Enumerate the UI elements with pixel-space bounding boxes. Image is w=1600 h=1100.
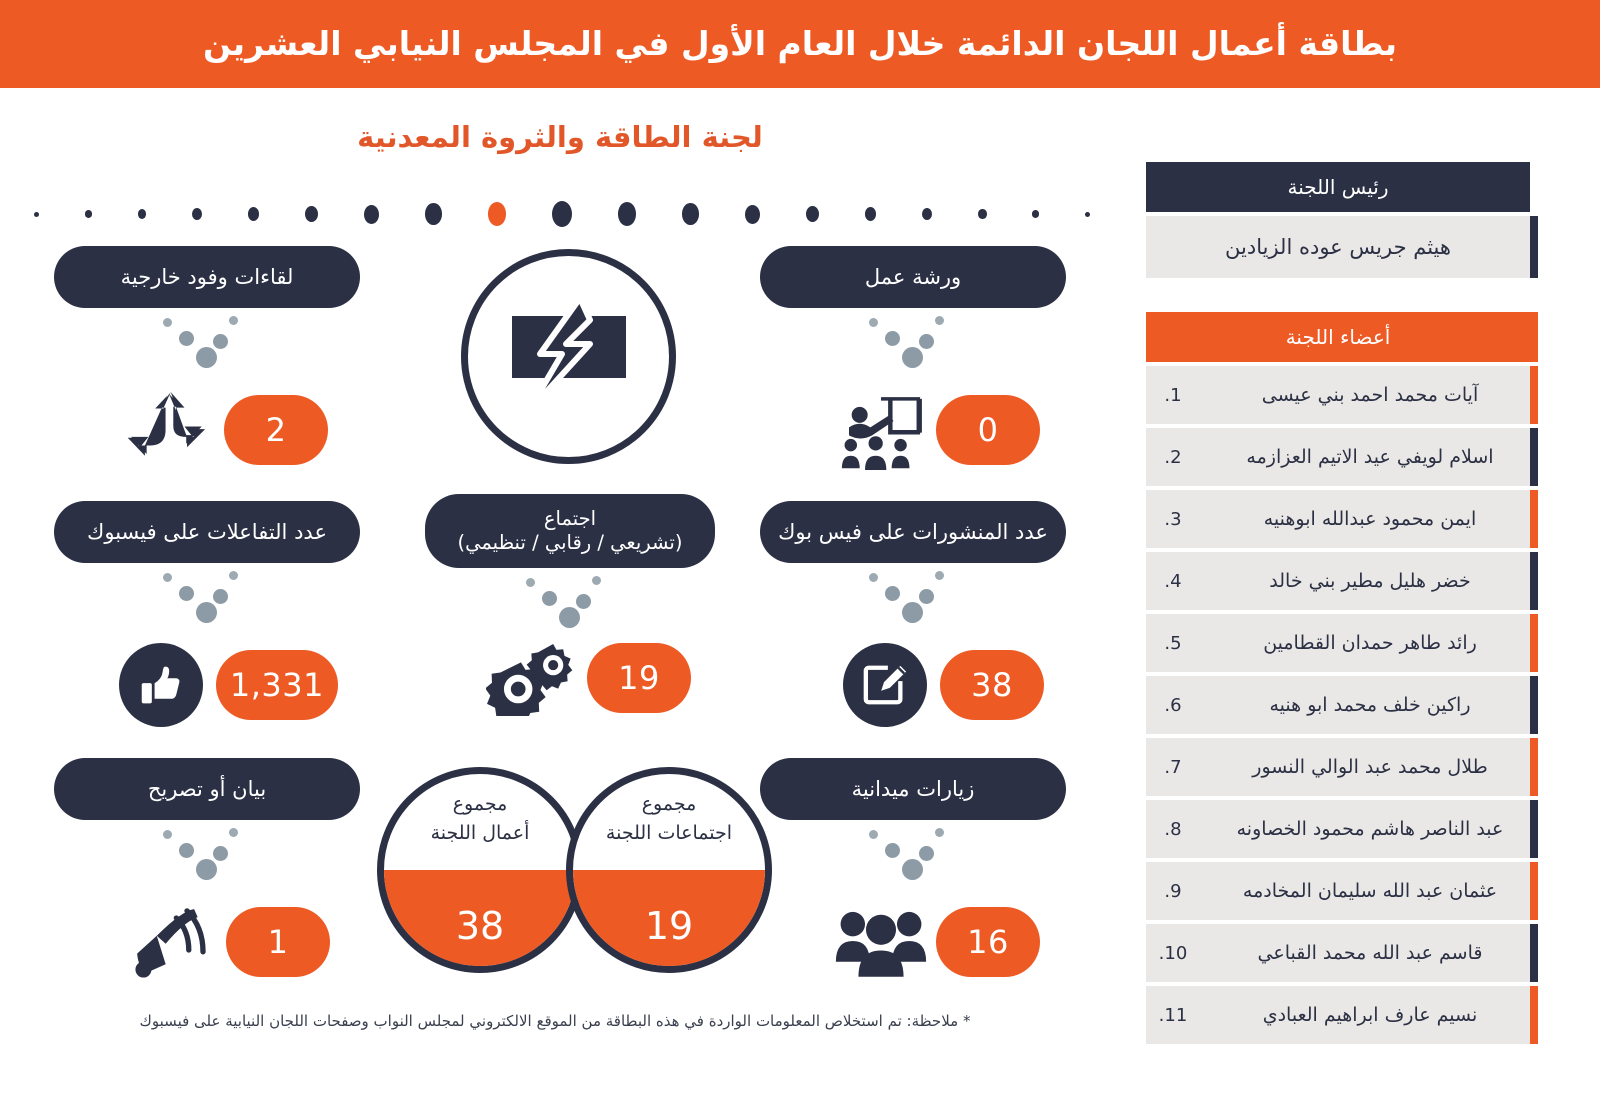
member-name: خضر هليل مطير بني خالد — [1200, 570, 1530, 592]
progress-dot — [978, 209, 986, 219]
member-row: طلال محمد عبد الوالي النسور7. — [1146, 738, 1530, 796]
progress-dot — [618, 202, 636, 226]
member-row: ايمن محمود عبدالله ابوهنيه3. — [1146, 490, 1530, 548]
committee-sidebar: رئيس اللجنة هيثم جريس عوده الزيادين أعضا… — [1126, 162, 1530, 1048]
member-row: قاسم عبد الله محمد القباعي10. — [1146, 924, 1530, 982]
metric-cards-area: لقاءات وفود خارجية 2 — [0, 246, 1110, 1006]
metric-card-statement: بيان أو تصريح 1 — [54, 758, 360, 988]
total-label-line2: اجتماعات اللجنة — [606, 822, 732, 844]
progress-dot — [192, 208, 202, 220]
member-number: 6. — [1146, 695, 1200, 716]
metric-card-field-visits: زيارات ميدانية 16 — [760, 758, 1066, 988]
member-row: راكين خلف محمد ابو هنيه6. — [1146, 676, 1530, 734]
progress-dot — [806, 206, 819, 223]
metric-value: 38 — [940, 650, 1044, 720]
training-presentation-icon — [826, 388, 936, 472]
member-name: عبد الناصر هاشم محمود الخصاونه — [1200, 818, 1530, 840]
member-name: ايمن محمود عبدالله ابوهنيه — [1200, 508, 1530, 530]
metric-label: زيارات ميدانية — [760, 758, 1066, 820]
metric-value: 1,331 — [216, 650, 338, 720]
total-circle-committee-works: مجموع أعمال اللجنة 38 — [377, 767, 583, 973]
progress-dot — [1032, 210, 1039, 217]
member-name: عثمان عبد الله سليمان المخادمه — [1200, 880, 1530, 902]
metric-value: 1 — [226, 907, 330, 977]
metric-card-external-delegations: لقاءات وفود خارجية 2 — [54, 246, 360, 476]
member-row: نسيم عارف ابراهيم العبادي11. — [1146, 986, 1530, 1044]
metric-card-facebook-posts: عدد المنشورات على فيس بوك 38 — [760, 501, 1066, 731]
connector-bubbles — [853, 314, 973, 370]
metric-label: عدد المنشورات على فيس بوك — [760, 501, 1066, 563]
metric-label: ورشة عمل — [760, 246, 1066, 308]
total-label-line1: مجموع — [642, 793, 697, 815]
connector-bubbles — [147, 826, 267, 882]
member-row: آيات محمد احمد بني عيسى1. — [1146, 366, 1530, 424]
connector-bubbles — [147, 569, 267, 625]
total-value: 19 — [573, 904, 765, 948]
member-number: 10. — [1146, 943, 1200, 964]
metric-card-facebook-interactions: عدد التفاعلات على فيسبوك 1,331 — [54, 501, 360, 731]
member-name: نسيم عارف ابراهيم العبادي — [1200, 1004, 1530, 1026]
thumbs-up-icon — [119, 643, 203, 727]
progress-dot — [682, 203, 699, 224]
total-label-line2: أعمال اللجنة — [431, 822, 530, 844]
connector-bubbles — [853, 569, 973, 625]
member-number: 11. — [1146, 1005, 1200, 1026]
progress-dot — [1085, 212, 1090, 217]
chair-name-row: هيثم جريس عوده الزيادين — [1146, 216, 1530, 278]
member-name: قاسم عبد الله محمد القباعي — [1200, 942, 1530, 964]
members-list: آيات محمد احمد بني عيسى1.اسلام لويفي عيد… — [1126, 366, 1530, 1044]
connector-bubbles — [853, 826, 973, 882]
progress-dot-active — [488, 202, 506, 226]
progress-dot — [85, 210, 92, 217]
member-number: 3. — [1146, 509, 1200, 530]
total-value: 38 — [384, 904, 576, 948]
metric-value: 19 — [587, 643, 691, 713]
member-row: خضر هليل مطير بني خالد4. — [1146, 552, 1530, 610]
group-people-icon — [826, 900, 936, 984]
member-number: 8. — [1146, 819, 1200, 840]
total-label-line1: مجموع — [453, 793, 508, 815]
progress-dot — [425, 203, 442, 224]
member-number: 7. — [1146, 757, 1200, 778]
connector-bubbles — [147, 314, 267, 370]
progress-dot — [552, 201, 572, 227]
member-name: اسلام لويفي عيد الاتيم العزازمه — [1200, 446, 1530, 468]
metric-card-meetings: اجتماع (تشريعي / رقابي / تنظيمي) 19 — [425, 494, 715, 724]
member-name: راكين خلف محمد ابو هنيه — [1200, 694, 1530, 716]
member-number: 1. — [1146, 385, 1200, 406]
connector-bubbles — [510, 574, 630, 630]
members-heading: أعضاء اللجنة — [1146, 312, 1530, 362]
member-row: عبد الناصر هاشم محمود الخصاونه8. — [1146, 800, 1530, 858]
metric-label: اجتماع (تشريعي / رقابي / تنظيمي) — [425, 494, 715, 568]
metric-label: بيان أو تصريح — [54, 758, 360, 820]
metric-value: 2 — [224, 395, 328, 465]
progress-dot — [138, 209, 146, 219]
progress-dot — [34, 212, 39, 217]
metric-value: 16 — [936, 907, 1040, 977]
member-row: رائد طاهر حمدان القطامين5. — [1146, 614, 1530, 672]
progress-dot — [364, 205, 379, 224]
metric-card-workshop: ورشة عمل 0 — [760, 246, 1066, 476]
chair-name: هيثم جريس عوده الزيادين — [1225, 235, 1451, 259]
metric-label: لقاءات وفود خارجية — [54, 246, 360, 308]
metric-label-line2: (تشريعي / رقابي / تنظيمي) — [458, 531, 683, 554]
page-title: بطاقة أعمال اللجان الدائمة خلال العام ال… — [143, 23, 1457, 64]
metric-value: 0 — [936, 395, 1040, 465]
infographic-root: بطاقة أعمال اللجان الدائمة خلال العام ال… — [0, 0, 1600, 1100]
chair-heading: رئيس اللجنة — [1146, 162, 1530, 212]
total-circle-committee-meetings: مجموع اجتماعات اللجنة 19 — [566, 767, 772, 973]
member-row: اسلام لويفي عيد الاتيم العزازمه2. — [1146, 428, 1530, 486]
megaphone-icon — [116, 900, 226, 984]
page-header: بطاقة أعمال اللجان الدائمة خلال العام ال… — [0, 0, 1600, 88]
member-number: 4. — [1146, 571, 1200, 592]
committee-progress-dots — [34, 196, 1090, 232]
metric-label-line1: اجتماع — [544, 507, 596, 530]
edit-compose-icon — [843, 643, 927, 727]
progress-dot — [865, 207, 877, 221]
committee-name: لجنة الطاقة والثروة المعدنية — [0, 120, 1120, 154]
member-number: 2. — [1146, 447, 1200, 468]
source-footnote: * ملاحظة: تم استخلاص المعلومات الواردة ف… — [0, 1012, 1110, 1030]
member-number: 5. — [1146, 633, 1200, 654]
gears-icon — [477, 636, 587, 720]
member-number: 9. — [1146, 881, 1200, 902]
progress-dot — [745, 205, 760, 224]
progress-dot — [305, 206, 318, 223]
member-name: طلال محمد عبد الوالي النسور — [1200, 756, 1530, 778]
progress-dot — [248, 207, 260, 221]
metric-label: عدد التفاعلات على فيسبوك — [54, 501, 360, 563]
member-row: عثمان عبد الله سليمان المخادمه9. — [1146, 862, 1530, 920]
multi-direction-arrows-icon — [114, 388, 224, 472]
progress-dot — [922, 208, 932, 220]
member-name: رائد طاهر حمدان القطامين — [1200, 632, 1530, 654]
member-name: آيات محمد احمد بني عيسى — [1200, 384, 1530, 406]
